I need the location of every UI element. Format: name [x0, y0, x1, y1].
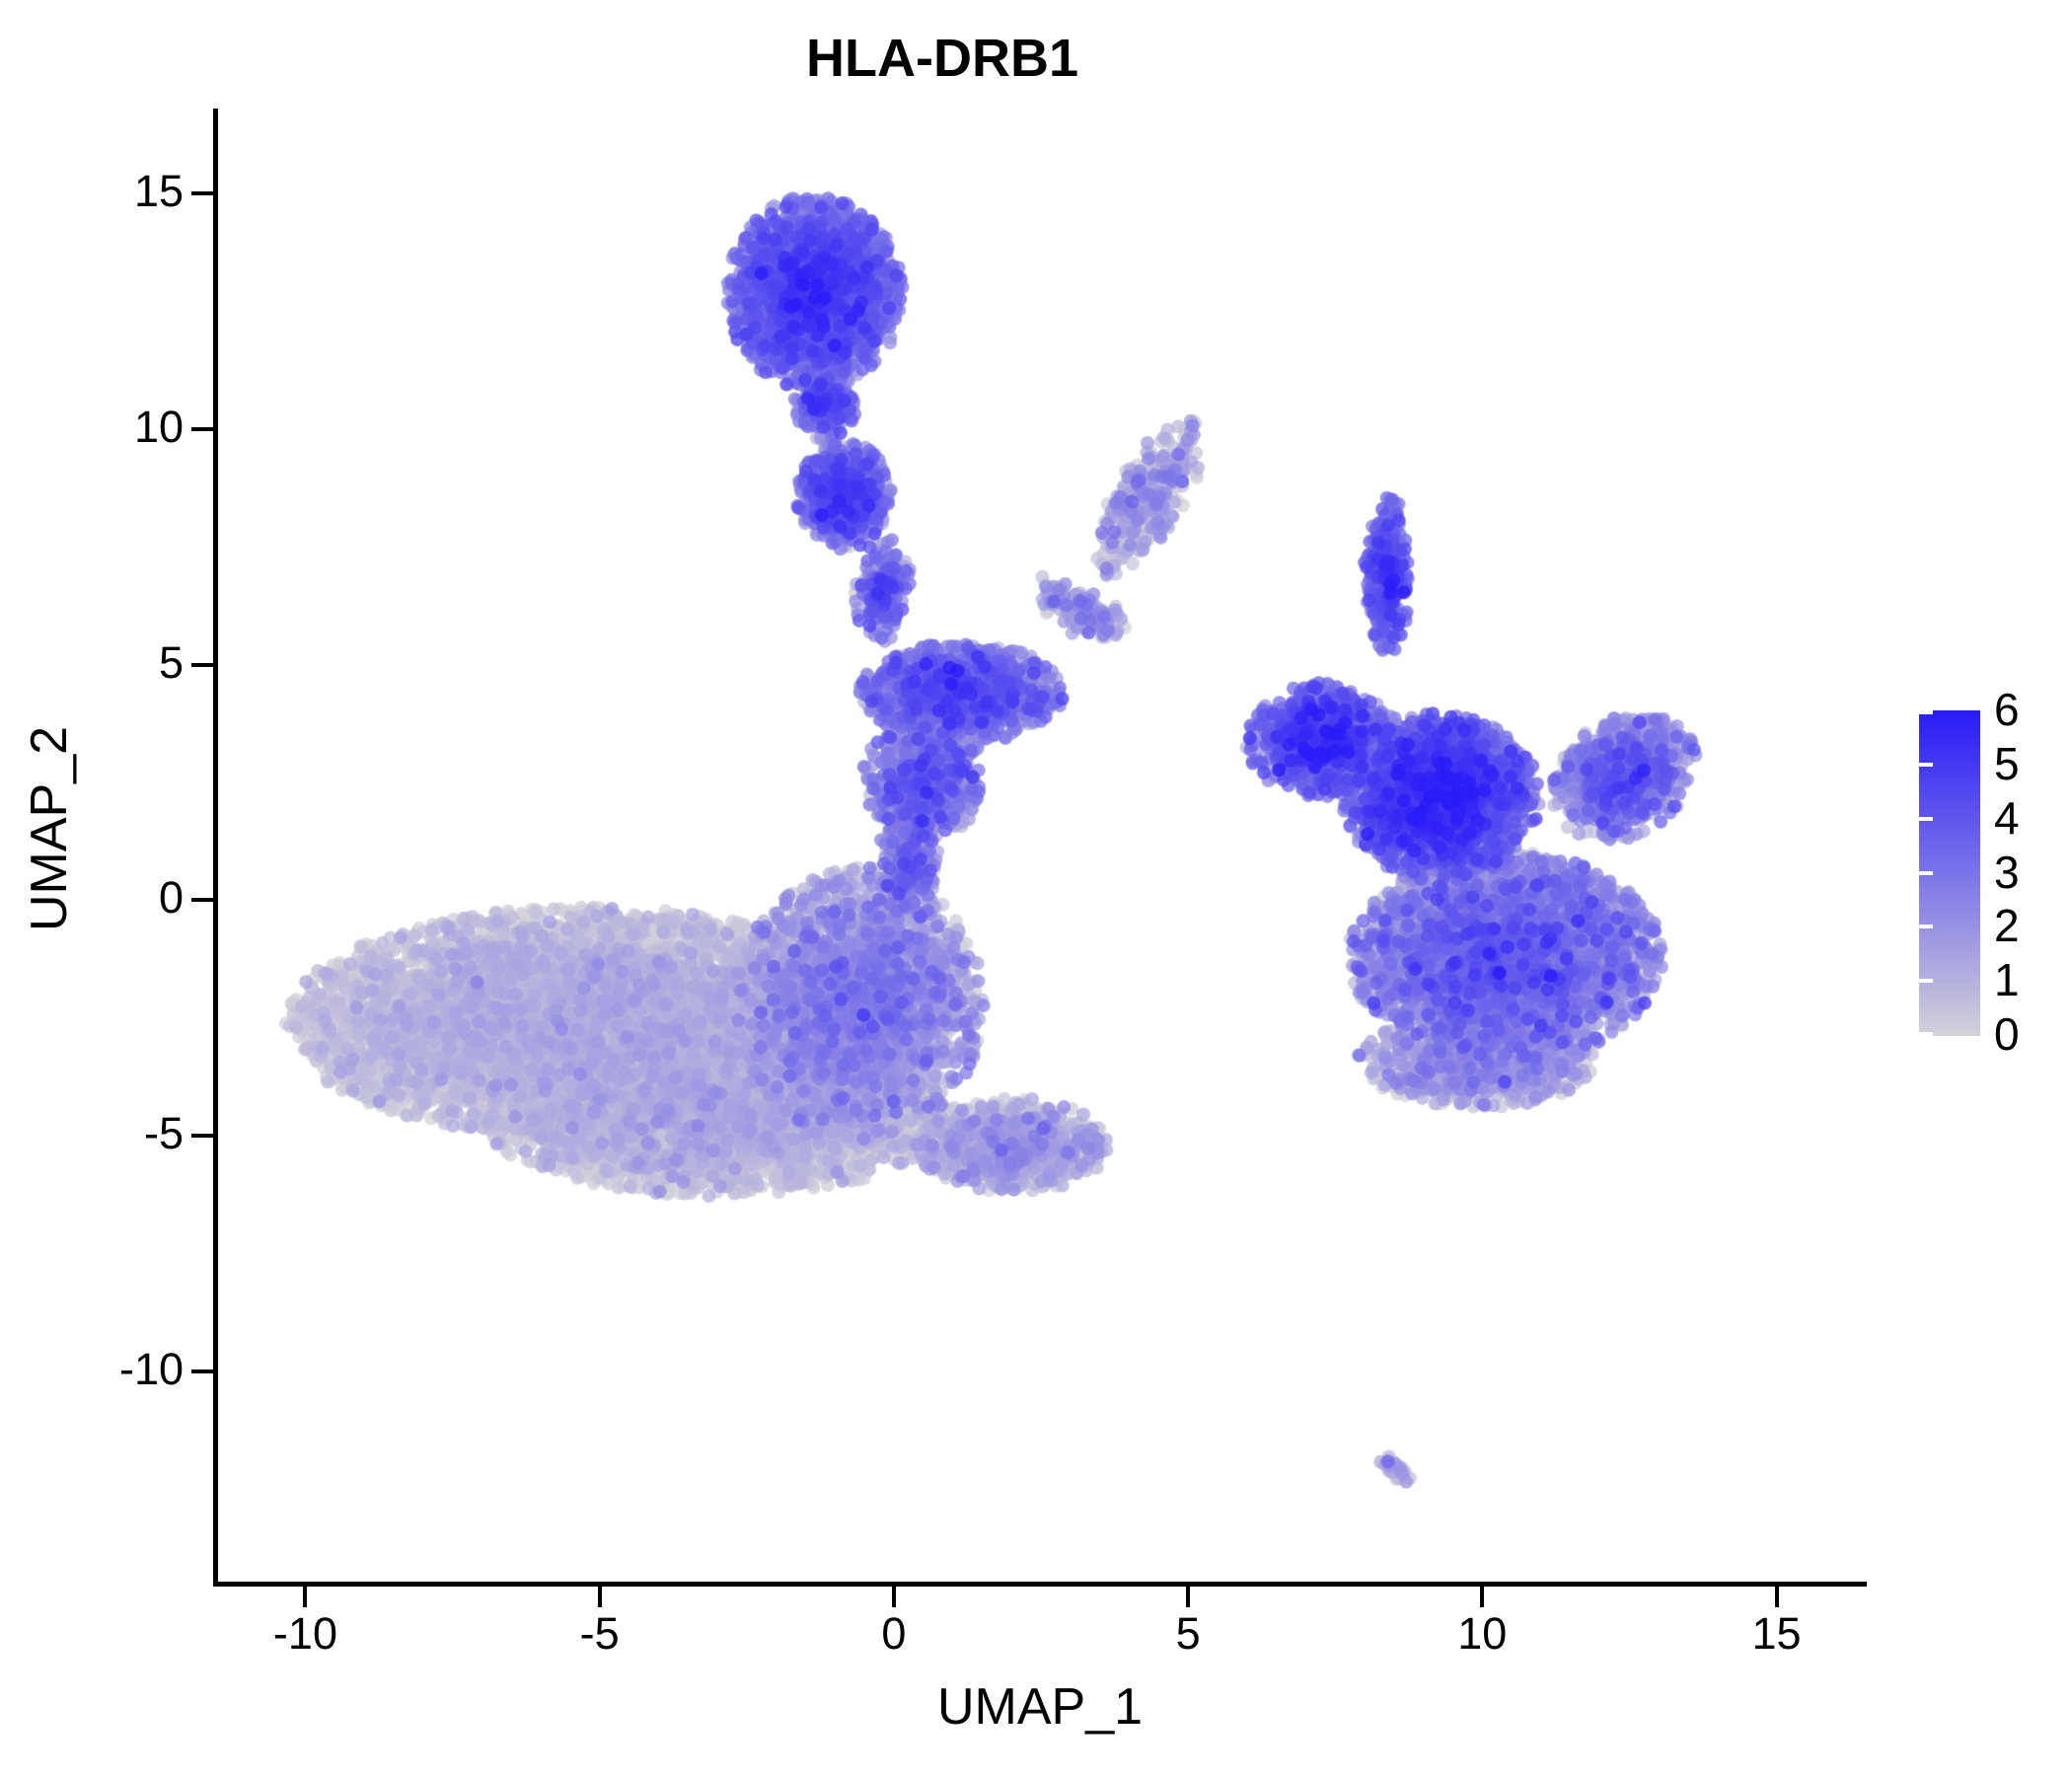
y-tick-mark: [191, 427, 213, 431]
colorbar-label: 4: [1994, 795, 2020, 841]
x-tick-mark: [303, 1586, 307, 1607]
colorbar-tick-mark: [1919, 925, 1933, 928]
colorbar-tick-mark: [1919, 817, 1933, 821]
y-tick-label: -10: [119, 1344, 184, 1395]
y-tick-label: 15: [134, 166, 184, 217]
y-tick-mark: [191, 191, 213, 195]
x-axis-line: [213, 1582, 1867, 1587]
x-tick-mark: [1775, 1586, 1779, 1607]
colorbar-tick-mark: [1919, 979, 1933, 983]
colorbar-tick-mark: [2053, 979, 2067, 983]
colorbar-label: 2: [1994, 903, 2020, 948]
y-tick-label: 0: [159, 872, 184, 924]
colorbar-tick-mark: [1919, 1032, 1933, 1036]
colorbar-tick-mark: [2053, 763, 2067, 767]
page-title: HLA-DRB1: [0, 28, 1885, 89]
colorbar-label: 1: [1994, 957, 2020, 1002]
colorbar-tick-mark: [1919, 763, 1933, 767]
x-tick-label: 15: [1752, 1608, 1802, 1660]
y-tick-mark: [191, 663, 213, 667]
y-tick-label: -5: [144, 1108, 184, 1159]
x-tick-label: -5: [580, 1608, 620, 1660]
x-tick-mark: [598, 1586, 602, 1607]
y-tick-mark: [191, 1369, 213, 1373]
y-axis-line: [213, 109, 218, 1586]
colorbar-tick-mark: [2053, 925, 2067, 928]
x-tick-label: -10: [273, 1608, 337, 1660]
x-tick-mark: [1186, 1586, 1190, 1607]
y-tick-mark: [191, 898, 213, 902]
colorbar-label: 0: [1994, 1011, 2020, 1057]
colorbar-label: 5: [1994, 741, 2020, 786]
y-tick-mark: [191, 1134, 213, 1138]
x-tick-label: 0: [881, 1608, 906, 1660]
colorbar-tick-mark: [2053, 710, 2067, 714]
colorbar-label: 3: [1994, 850, 2020, 895]
x-tick-label: 10: [1457, 1608, 1507, 1660]
color-legend: 6543210: [1919, 710, 2067, 1046]
x-tick-mark: [892, 1586, 896, 1607]
colorbar-tick-mark: [1919, 710, 1933, 714]
x-tick-label: 5: [1176, 1608, 1201, 1660]
colorbar-tick-mark: [2053, 871, 2067, 875]
x-axis-title: UMAP_1: [213, 1677, 1867, 1737]
umap-feature-plot: HLA-DRB1 151050-5-10-10-5051015 UMAP_1 U…: [0, 0, 2072, 1776]
colorbar-tick-mark: [1919, 871, 1933, 875]
y-tick-label: 5: [159, 637, 184, 689]
colorbar-tick-mark: [2053, 817, 2067, 821]
x-tick-mark: [1480, 1586, 1484, 1607]
y-tick-label: 10: [134, 402, 184, 453]
scatter-plot-canvas: [217, 109, 1865, 1584]
colorbar-label: 6: [1994, 687, 2020, 732]
colorbar-tick-mark: [2053, 1032, 2067, 1036]
y-axis-title: UMAP_2: [20, 483, 79, 1174]
